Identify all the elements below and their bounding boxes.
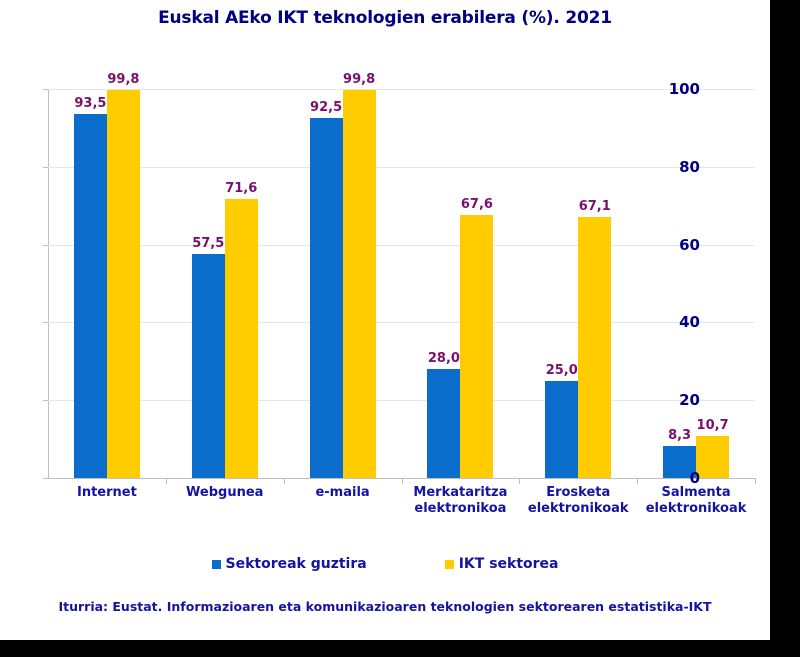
y-axis-label: 60 <box>660 236 700 254</box>
x-axis-label: e-maila <box>286 485 400 501</box>
bar <box>343 90 376 478</box>
bar <box>578 217 611 478</box>
legend-swatch-icon <box>212 560 221 569</box>
bar <box>427 369 460 478</box>
legend-item[interactable]: IKT sektorea <box>445 556 559 572</box>
y-axis-tick <box>43 245 48 246</box>
y-axis-tick <box>43 167 48 168</box>
x-axis-label: Internet <box>50 485 164 501</box>
x-axis-tick <box>284 478 285 484</box>
x-axis-tick <box>166 478 167 484</box>
x-axis-tick <box>637 478 638 484</box>
bar <box>545 381 578 478</box>
page-title: Euskal AEko IKT teknologien erabilera (%… <box>0 8 770 28</box>
bar-value-label: 28,0 <box>428 351 460 366</box>
bar-value-label: 10,7 <box>697 418 729 433</box>
y-axis-line <box>48 89 49 478</box>
gridline <box>48 167 755 168</box>
bar <box>107 90 140 478</box>
x-axis-label: Salmenta elektronikoak <box>639 485 753 517</box>
x-axis-tick <box>519 478 520 484</box>
bar-value-label: 99,8 <box>107 72 139 87</box>
bar-value-label: 25,0 <box>546 363 578 378</box>
source-note: Iturria: Eustat. Informazioaren eta komu… <box>0 599 770 614</box>
bar-value-label: 99,8 <box>343 72 375 87</box>
bar-value-label: 71,6 <box>225 181 257 196</box>
y-axis-tick <box>43 478 48 479</box>
plot-area: 93,599,857,571,692,599,828,067,625,067,1… <box>48 89 755 478</box>
legend-item[interactable]: Sektoreak guztira <box>212 556 367 572</box>
legend-swatch-icon <box>445 560 454 569</box>
y-axis-label: 80 <box>660 158 700 176</box>
x-axis-tick <box>402 478 403 484</box>
gridline <box>48 89 755 90</box>
y-axis-label: 100 <box>660 80 700 98</box>
bar-value-label: 93,5 <box>74 96 106 111</box>
x-axis-tick <box>755 478 756 484</box>
y-axis-tick <box>43 322 48 323</box>
chart-page: Euskal AEko IKT teknologien erabilera (%… <box>0 0 770 640</box>
bar-value-label: 8,3 <box>668 428 691 443</box>
x-axis-label: Merkataritza elektronikoa <box>403 485 517 517</box>
bar-value-label: 67,6 <box>461 197 493 212</box>
y-axis-tick <box>43 400 48 401</box>
bar <box>460 215 493 478</box>
bar-value-label: 92,5 <box>310 100 342 115</box>
bar <box>74 114 107 478</box>
bar-value-label: 57,5 <box>192 236 224 251</box>
y-axis-tick <box>43 89 48 90</box>
y-axis-label: 40 <box>660 313 700 331</box>
gridline <box>48 322 755 323</box>
legend-label: IKT sektorea <box>459 556 559 572</box>
bar <box>225 199 258 478</box>
gridline <box>48 400 755 401</box>
bar <box>310 118 343 478</box>
bar <box>192 254 225 478</box>
y-axis-label: 20 <box>660 391 700 409</box>
gridline <box>48 245 755 246</box>
legend-label: Sektoreak guztira <box>226 556 367 572</box>
bar <box>696 436 729 478</box>
x-axis-label: Webgunea <box>168 485 282 501</box>
bar-value-label: 67,1 <box>579 199 611 214</box>
legend: Sektoreak guztiraIKT sektorea <box>0 556 770 572</box>
x-axis-label: Erosketa elektronikoak <box>521 485 635 517</box>
